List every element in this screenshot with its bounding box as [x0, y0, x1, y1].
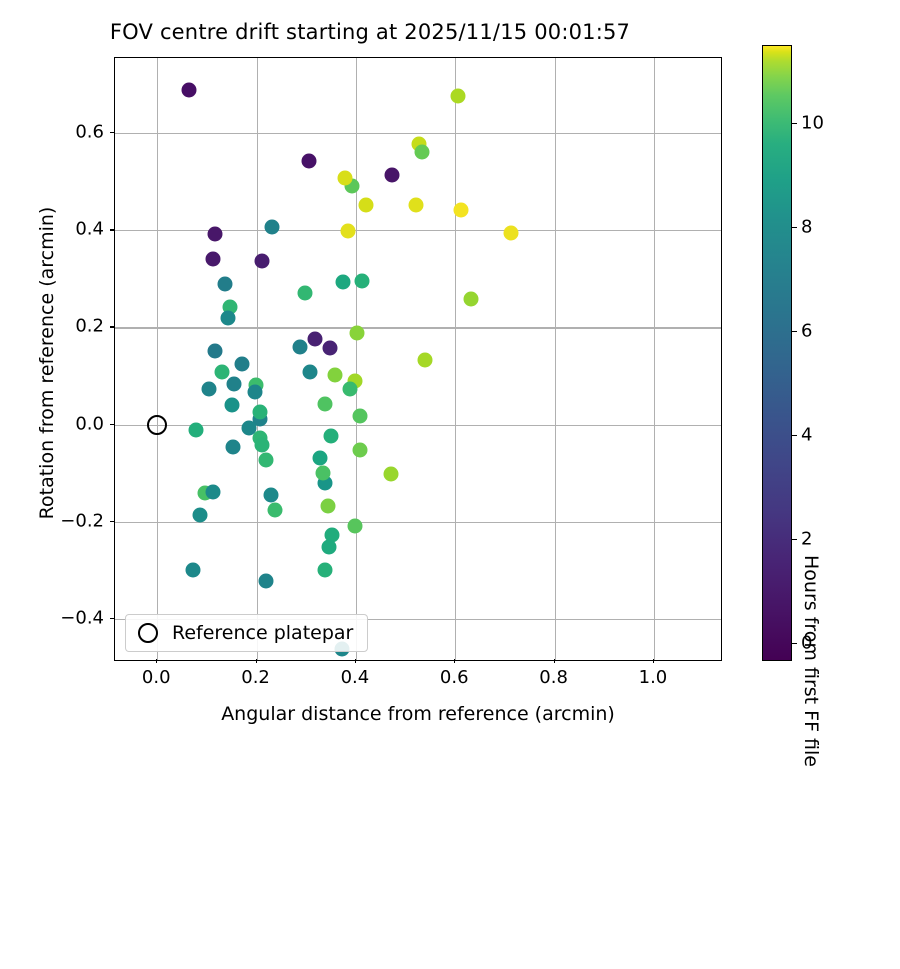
scatter-point [226, 376, 241, 391]
y-axis-tick [110, 424, 114, 425]
scatter-point [383, 466, 398, 481]
legend-label: Reference platepar [172, 622, 353, 644]
scatter-point [248, 385, 263, 400]
scatter-point [414, 144, 429, 159]
x-axis-tick [256, 659, 257, 663]
gridline-vertical [654, 58, 655, 660]
legend[interactable]: Reference platepar [125, 614, 368, 652]
scatter-point [417, 352, 432, 367]
scatter-point [225, 397, 240, 412]
scatter-point [221, 311, 236, 326]
x-axis-label: Angular distance from reference (arcmin) [114, 703, 722, 725]
scatter-point [188, 422, 203, 437]
y-axis-tick-label: 0.4 [30, 219, 104, 240]
scatter-point [336, 274, 351, 289]
gridline-horizontal [115, 230, 721, 231]
x-axis-tick [653, 659, 654, 663]
scatter-point [264, 220, 279, 235]
scatter-point [408, 198, 423, 213]
scatter-point [315, 465, 330, 480]
scatter-point [301, 153, 316, 168]
scatter-point [317, 563, 332, 578]
scatter-point [253, 405, 268, 420]
colorbar-label: Hours from first FF file [800, 353, 822, 969]
y-axis-tick [110, 132, 114, 133]
colorbar-tick [792, 123, 797, 124]
gridline-horizontal [115, 133, 721, 134]
scatter-point [206, 484, 221, 499]
scatter-point [324, 428, 339, 443]
x-axis-tick-label: 0.0 [142, 667, 171, 688]
y-axis-tick-label: 0.2 [30, 316, 104, 337]
y-axis-label: Rotation from reference (arcmin) [36, 61, 58, 665]
x-axis-tick [554, 659, 555, 663]
scatter-point [347, 519, 362, 534]
y-axis-tick-label: −0.2 [30, 510, 104, 531]
scatter-point [234, 357, 249, 372]
colorbar-tick-label: 10 [801, 112, 824, 133]
gridline-horizontal [115, 425, 721, 426]
y-axis-tick-label: 0.0 [30, 413, 104, 434]
scatter-point [343, 382, 358, 397]
y-axis-tick [110, 326, 114, 327]
colorbar-tick-label: 6 [801, 320, 812, 341]
colorbar-tick [792, 435, 797, 436]
scatter-point [354, 273, 369, 288]
scatter-point [218, 277, 233, 292]
gridline-vertical [257, 58, 258, 660]
colorbar-tick [792, 539, 797, 540]
scatter-point [322, 539, 337, 554]
scatter-point [208, 226, 223, 241]
scatter-point [323, 341, 338, 356]
gridline-vertical [455, 58, 456, 660]
colorbar-gradient [762, 45, 792, 661]
x-axis-tick [454, 659, 455, 663]
x-axis-tick-label: 1.0 [639, 667, 668, 688]
gridline-horizontal [115, 522, 721, 523]
y-axis-tick [110, 229, 114, 230]
y-axis-tick [110, 521, 114, 522]
gridline-vertical [157, 58, 158, 660]
scatter-point [313, 450, 328, 465]
scatter-point [385, 168, 400, 183]
scatter-point [293, 339, 308, 354]
scatter-point [255, 253, 270, 268]
scatter-point [320, 499, 335, 514]
x-axis-tick-label: 0.4 [341, 667, 370, 688]
scatter-point [352, 409, 367, 424]
scatter-point [303, 364, 318, 379]
scatter-point [464, 291, 479, 306]
scatter-point [185, 562, 200, 577]
reference-platepar-marker [147, 415, 167, 435]
scatter-point [263, 488, 278, 503]
y-axis-tick [110, 618, 114, 619]
scatter-point [206, 251, 221, 266]
scatter-point [255, 438, 270, 453]
scatter-point [350, 325, 365, 340]
scatter-point [208, 343, 223, 358]
scatter-point [258, 452, 273, 467]
colorbar-tick-label: 8 [801, 216, 812, 237]
scatter-point [503, 226, 518, 241]
scatter-point [341, 224, 356, 239]
scatter-point [201, 382, 216, 397]
scatter-point [192, 507, 207, 522]
x-axis-tick [355, 659, 356, 663]
colorbar-tick [792, 643, 797, 644]
y-axis-tick-label: 0.6 [30, 122, 104, 143]
x-axis-tick [156, 659, 157, 663]
scatter-point [353, 443, 368, 458]
y-axis-tick-label: −0.4 [30, 607, 104, 628]
x-axis-tick-label: 0.6 [440, 667, 469, 688]
scatter-point [359, 197, 374, 212]
scatter-point [317, 396, 332, 411]
scatter-point [338, 170, 353, 185]
scatter-point [454, 203, 469, 218]
scatter-point [451, 88, 466, 103]
colorbar: 0246810 [762, 45, 792, 661]
page-title: FOV centre drift starting at 2025/11/15 … [0, 20, 740, 44]
legend-marker-circle-icon [138, 623, 158, 643]
x-axis-tick-label: 0.8 [539, 667, 568, 688]
scatter-point [267, 502, 282, 517]
scatter-point [181, 82, 196, 97]
scatter-point [327, 368, 342, 383]
scatter-point [307, 331, 322, 346]
scatter-point [297, 286, 312, 301]
figure-root: FOV centre drift starting at 2025/11/15 … [0, 0, 900, 750]
scatter-point [225, 440, 240, 455]
gridline-vertical [356, 58, 357, 660]
colorbar-tick [792, 227, 797, 228]
gridline-vertical [555, 58, 556, 660]
colorbar-tick [792, 331, 797, 332]
x-axis-tick-label: 0.2 [241, 667, 270, 688]
gridline-horizontal [115, 327, 721, 328]
scatter-point [259, 573, 274, 588]
scatter-point [214, 364, 229, 379]
plot-area: Reference platepar [114, 57, 722, 661]
